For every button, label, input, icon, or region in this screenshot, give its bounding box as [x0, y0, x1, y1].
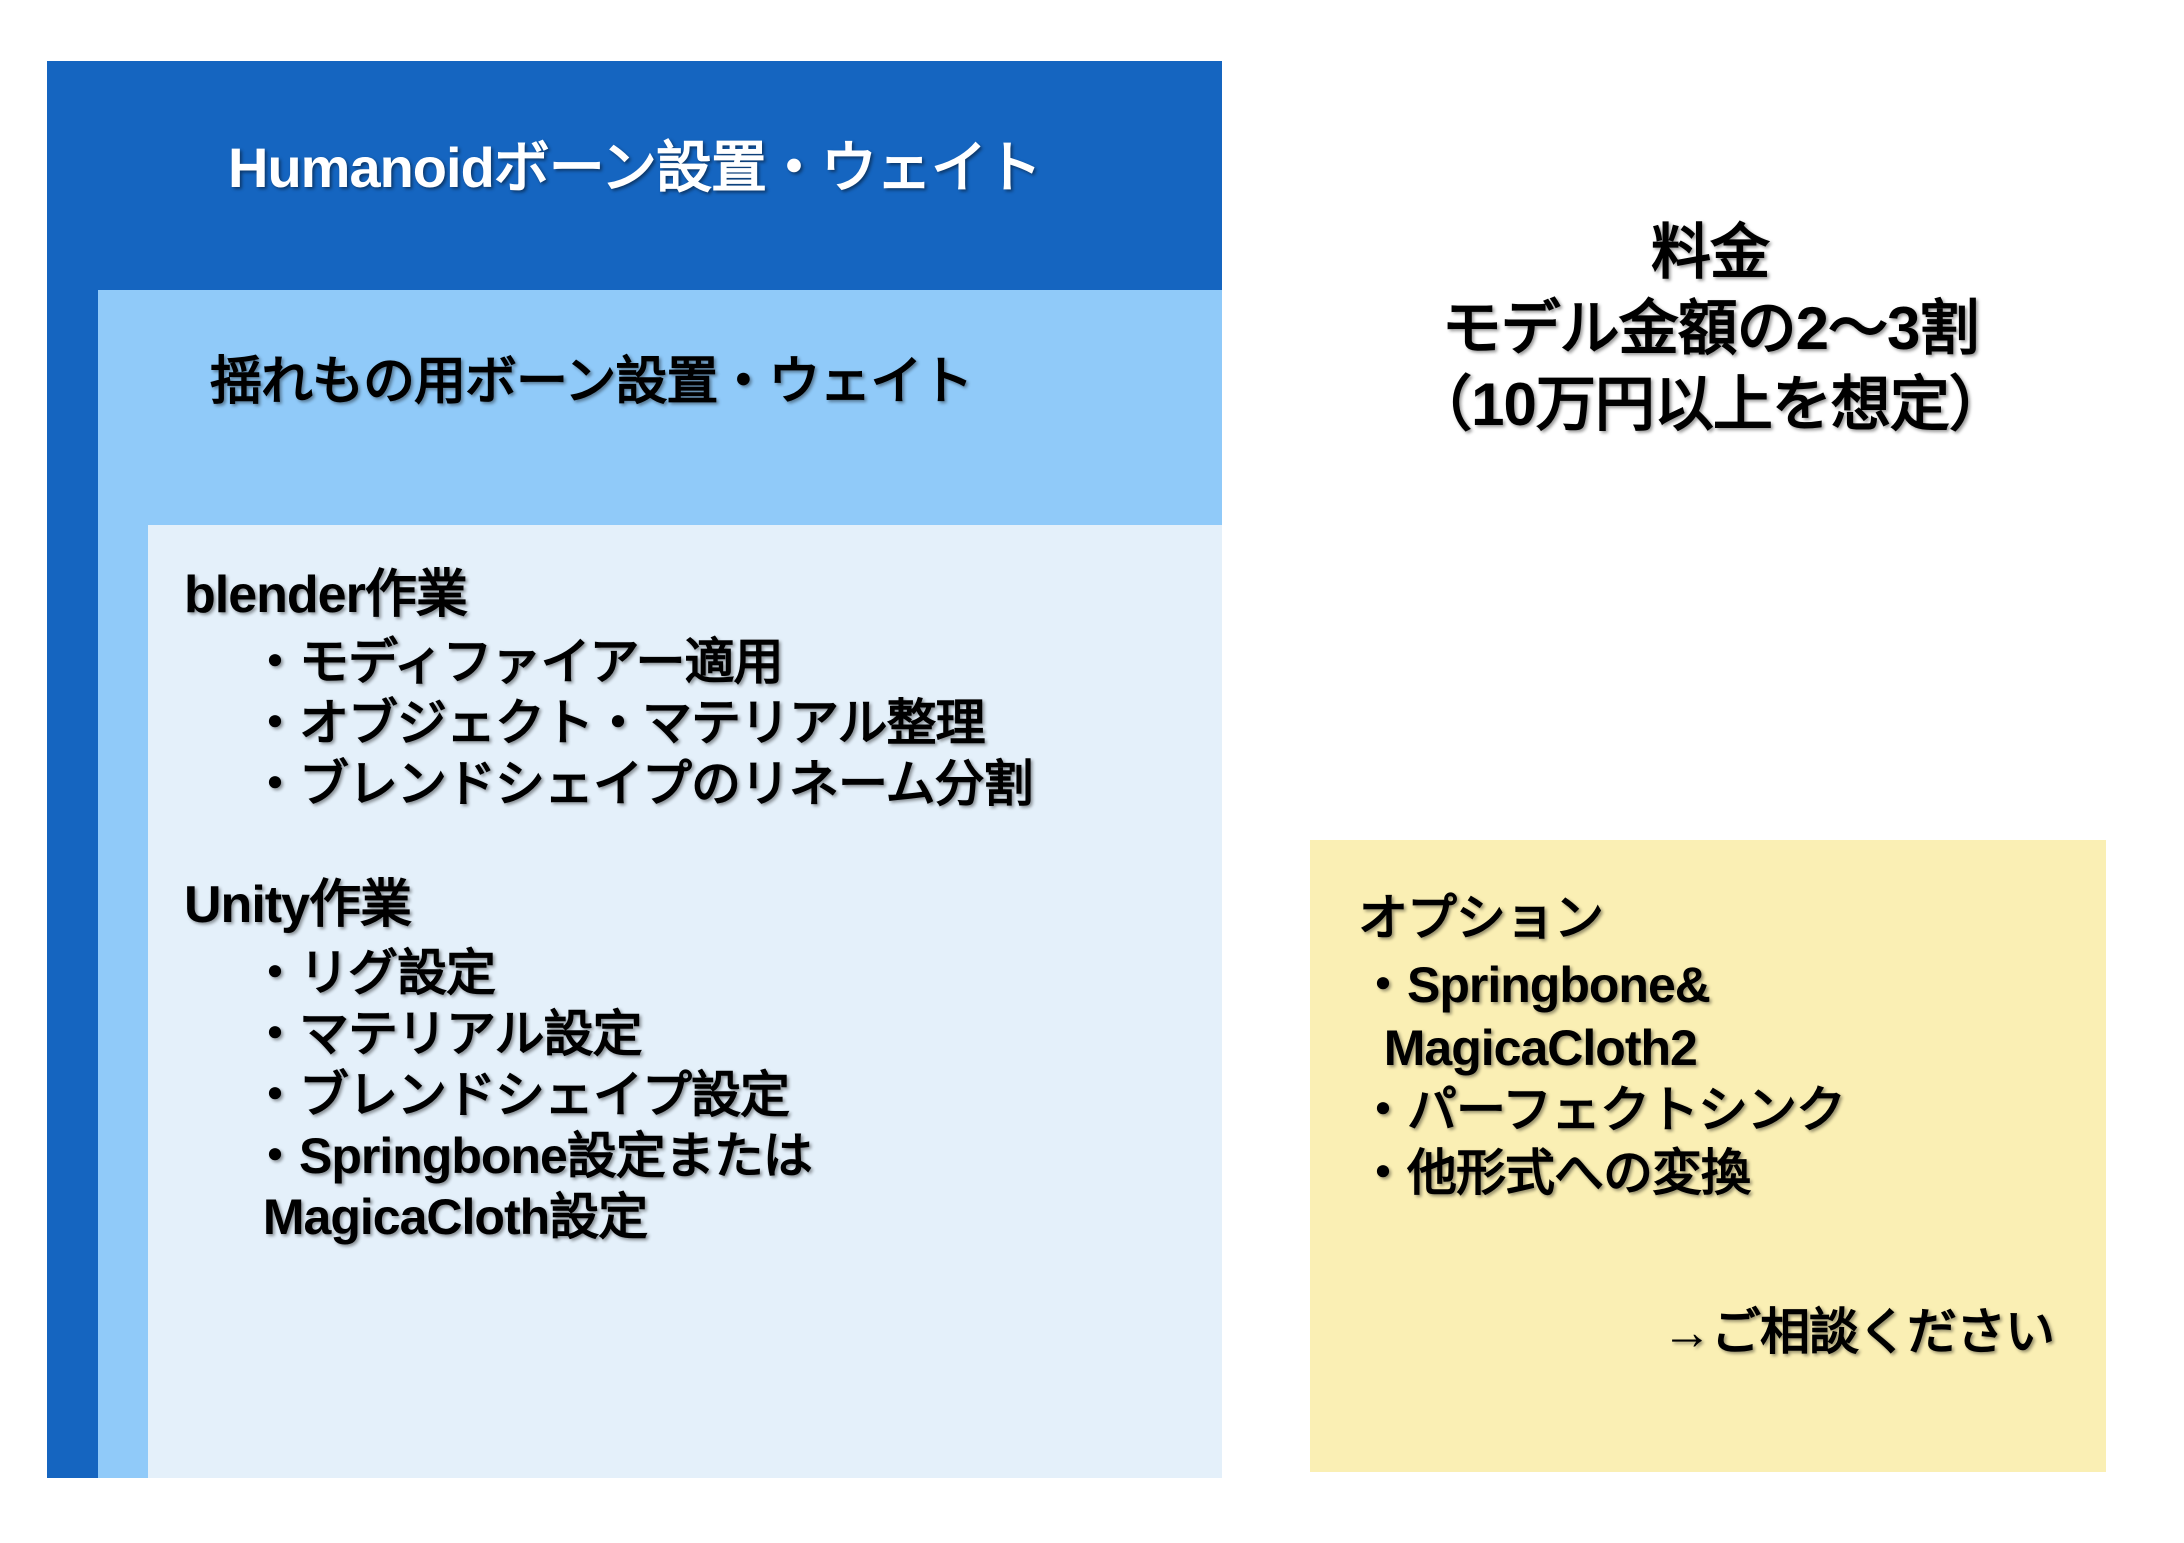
workflow-mid-title: 揺れもの用ボーン設置・ウェイト — [210, 339, 972, 414]
unity-bullet-list: ・リグ設定 ・マテリアル設定 ・ブレンドシェイプ設定 ・Springbone設定… — [184, 943, 1222, 1248]
list-item: ・リグ設定 — [250, 943, 1222, 1004]
workflow-task-list: blender作業 ・モディファイアー適用 ・オブジェクト・マテリアル整理 ・ブ… — [148, 525, 1222, 1248]
list-item: ・オブジェクト・マテリアル整理 — [250, 693, 1222, 754]
list-item: ・Springbone& — [1358, 954, 2106, 1017]
list-item: MagicaCloth設定 — [250, 1187, 1222, 1248]
section-heading-unity: Unity作業 — [184, 875, 1222, 936]
workflow-inner-box: blender作業 ・モディファイアー適用 ・オブジェクト・マテリアル整理 ・ブ… — [148, 525, 1222, 1478]
blender-bullet-list: ・モディファイアー適用 ・オブジェクト・マテリアル整理 ・ブレンドシェイプのリネ… — [184, 632, 1222, 815]
list-item: MagicaCloth2 — [1358, 1017, 2106, 1080]
workflow-outer-box: Humanoidボーン設置・ウェイト 揺れもの用ボーン設置・ウェイト blend… — [47, 61, 1222, 1478]
list-item: ・ブレンドシェイプ設定 — [250, 1065, 1222, 1126]
section-heading-blender: blender作業 — [184, 565, 1222, 626]
list-item: ・他形式への変換 — [1358, 1142, 2106, 1205]
pricing-note: （10万円以上を想定） — [1260, 367, 2160, 443]
list-item: ・マテリアル設定 — [250, 1004, 1222, 1065]
pricing-title: 料金 — [1260, 215, 2160, 291]
pricing-block: 料金 モデル金額の2～3割 （10万円以上を想定） — [1260, 215, 2160, 444]
list-item: ・パーフェクトシンク — [1358, 1079, 2106, 1142]
workflow-outer-title: Humanoidボーン設置・ウェイト — [47, 61, 1222, 204]
options-list: ・Springbone& MagicaCloth2 ・パーフェクトシンク ・他形… — [1358, 954, 2106, 1204]
options-cta-text: →ご相談ください — [1358, 1292, 2106, 1364]
list-item: ・Springbone設定または — [250, 1126, 1222, 1187]
list-item: ・モディファイアー適用 — [250, 632, 1222, 693]
options-heading: オプション — [1358, 888, 2106, 948]
section-blender: blender作業 ・モディファイアー適用 ・オブジェクト・マテリアル整理 ・ブ… — [184, 565, 1222, 815]
options-content: オプション ・Springbone& MagicaCloth2 ・パーフェクトシ… — [1310, 840, 2106, 1364]
pricing-rate: モデル金額の2～3割 — [1260, 291, 2160, 367]
workflow-mid-box: 揺れもの用ボーン設置・ウェイト blender作業 ・モディファイアー適用 ・オ… — [98, 290, 1222, 1478]
list-item: ・ブレンドシェイプのリネーム分割 — [250, 754, 1222, 815]
section-unity: Unity作業 ・リグ設定 ・マテリアル設定 ・ブレンドシェイプ設定 ・Spri… — [184, 875, 1222, 1247]
options-box: オプション ・Springbone& MagicaCloth2 ・パーフェクトシ… — [1310, 840, 2106, 1472]
